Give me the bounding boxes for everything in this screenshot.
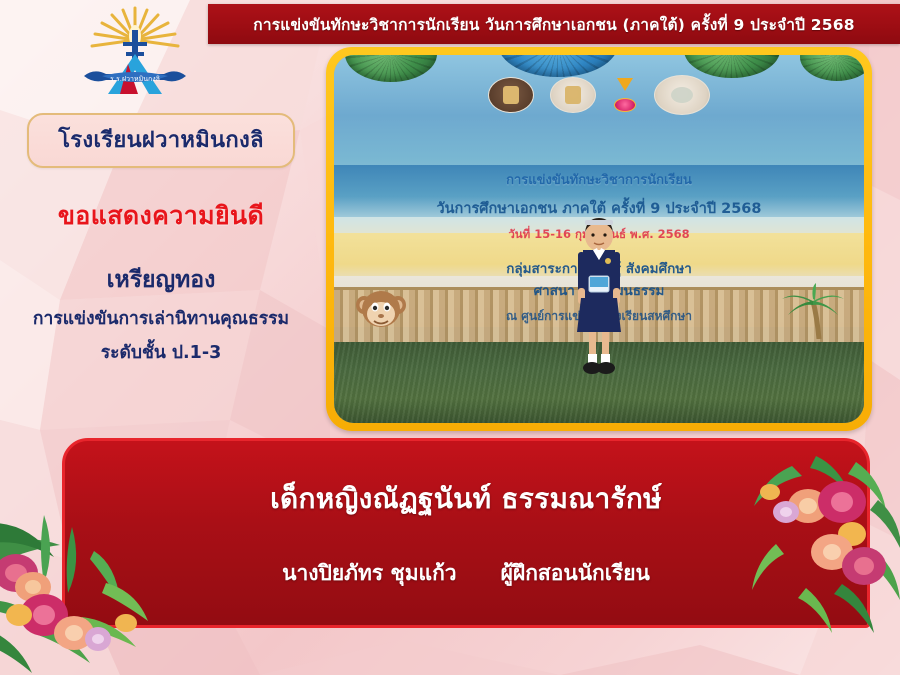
left-info-column: โรงเรียนฝวาหมินกงลิ ขอแสดงความยินดี เหรี… xyxy=(0,105,322,366)
award-label: เหรียญทอง xyxy=(0,262,322,298)
palm-tree-icon xyxy=(778,283,848,339)
teacher-name: นางปิยภัทร ชุมแก้ว xyxy=(282,557,456,590)
emblem-light-icon xyxy=(550,77,596,113)
chumphon-logo-icon xyxy=(654,75,710,115)
page-title: การแข่งขันทักษะวิชาการนักเรียน วันการศึก… xyxy=(253,12,854,37)
school-crest-icon: ร.ร.ฝวาหมินกงลิ xyxy=(76,2,194,104)
teacher-row: นางปิยภัทร ชุมแก้ว ผู้ฝึกสอนนักเรียน xyxy=(282,557,650,590)
svg-text:ร.ร.ฝวาหมินกงลิ: ร.ร.ฝวาหมินกงลิ xyxy=(110,75,160,83)
student-photo-subject xyxy=(569,214,629,386)
header-bar: การแข่งขันทักษะวิชาการนักเรียน วันการศึก… xyxy=(208,4,900,44)
bottom-red-banner: เด็กหญิงณัฏฐนันท์ ธรรมณารักษ์ นางปิยภัทร… xyxy=(62,438,870,628)
congratulations-text: ขอแสดงความยินดี xyxy=(0,196,322,236)
event-name: การแข่งขันการเล่านิทานคุณธรรม xyxy=(0,304,322,332)
teacher-role: ผู้ฝึกสอนนักเรียน xyxy=(501,557,650,590)
emblem-dark-icon xyxy=(488,77,534,113)
event-photo: การแข่งขันทักษะวิชาการนักเรียน วันการศึก… xyxy=(334,55,864,423)
medal-icon xyxy=(612,78,638,112)
school-name-box: โรงเรียนฝวาหมินกงลิ xyxy=(27,113,295,168)
photo-frame: การแข่งขันทักษะวิชาการนักเรียน วันการศึก… xyxy=(326,47,872,431)
banner-line-1: การแข่งขันทักษะวิชาการนักเรียน xyxy=(334,169,864,190)
school-name: โรงเรียนฝวาหมินกงลิ xyxy=(33,122,289,157)
banner-emblem-row xyxy=(334,75,864,115)
student-name: เด็กหญิงณัฏฐนันท์ ธรรมณารักษ์ xyxy=(270,477,662,521)
congratulation-poster: การแข่งขันทักษะวิชาการนักเรียน วันการศึก… xyxy=(0,0,900,675)
monkey-icon xyxy=(355,287,407,333)
grade-level: ระดับชั้น ป.1-3 xyxy=(0,338,322,366)
